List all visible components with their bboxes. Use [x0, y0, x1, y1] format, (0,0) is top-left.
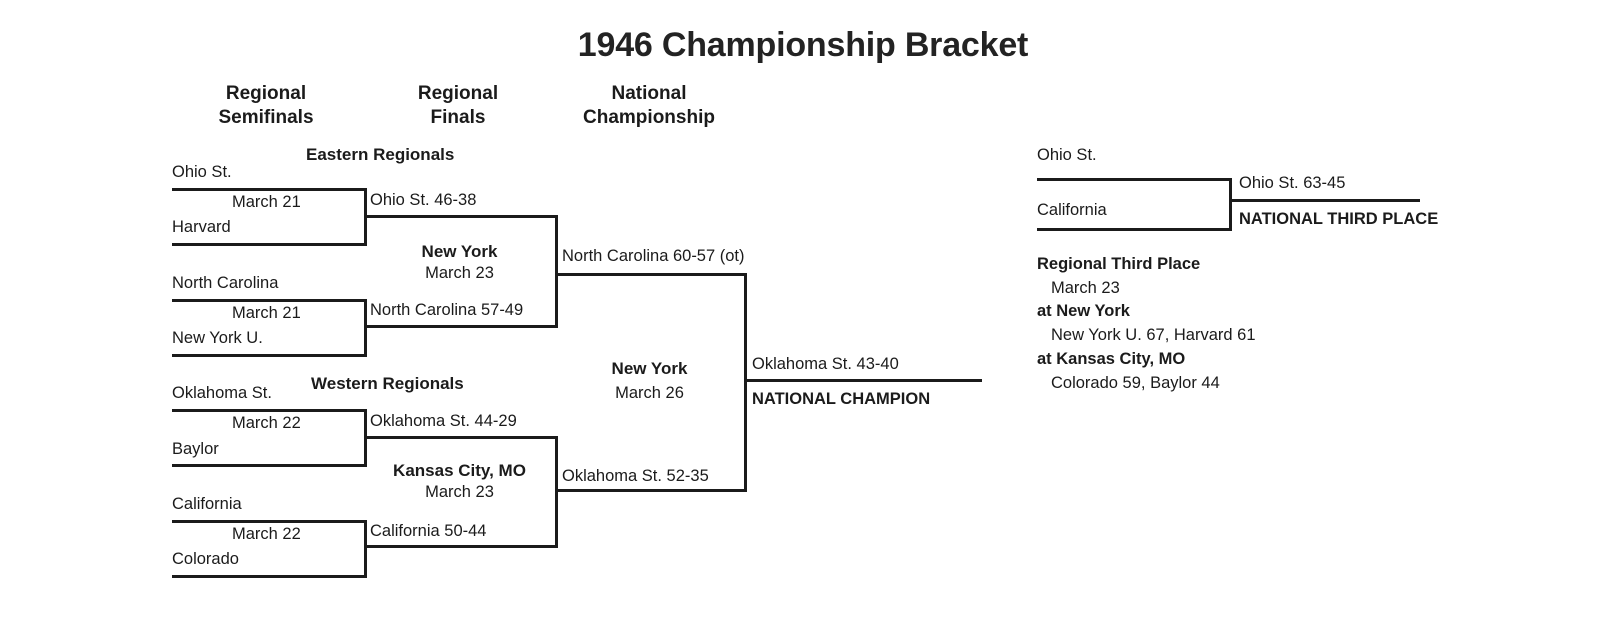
- regional-third-place-result-2: Colorado 59, Baylor 44: [1051, 374, 1220, 393]
- regional-final-west-right-rule: [555, 436, 558, 548]
- semifinal-east2-right-rule: [364, 299, 367, 357]
- round-header-regional-finals: Regional Finals: [370, 82, 546, 130]
- regional-third-place-site-2: at Kansas City, MO: [1037, 350, 1185, 369]
- regional-final-west-date: March 23: [364, 482, 555, 503]
- third-place-label: NATIONAL THIRD PLACE: [1239, 209, 1438, 229]
- semifinal-east2-team-bottom: New York U.: [172, 328, 263, 348]
- championship-site: New York: [555, 358, 744, 379]
- third-place-right-rule: [1229, 178, 1232, 231]
- bracket-root: 1946 Championship Bracket Regional Semif…: [0, 0, 1606, 630]
- region-label-western: Western Regionals: [311, 374, 464, 394]
- championship-right-rule: [744, 273, 747, 492]
- semifinal-west1-top-rule: [172, 409, 364, 412]
- champion-label: NATIONAL CHAMPION: [752, 389, 930, 409]
- regional-final-west-bottom-rule: [364, 545, 555, 548]
- semifinal-east1-team-bottom: Harvard: [172, 217, 231, 237]
- semifinal-east2-bottom-rule: [172, 354, 364, 357]
- regional-final-west-site: Kansas City, MO: [364, 460, 555, 481]
- championship-bottom-rule: [555, 489, 744, 492]
- championship-semifinal-top-result: North Carolina 60-57 (ot): [562, 246, 745, 266]
- semifinal-west2-top-rule: [172, 520, 364, 523]
- semifinal-east2-team-top: North Carolina: [172, 273, 278, 293]
- regional-final-east-top-rule: [364, 215, 555, 218]
- round-header-regional-semifinals: Regional Semifinals: [176, 82, 356, 130]
- semifinal-west1-team-bottom: Baylor: [172, 439, 219, 459]
- third-place-bottom-rule: [1037, 228, 1229, 231]
- semifinal-east1-team-top: Ohio St.: [172, 162, 232, 182]
- semifinal-east2-date: March 21: [232, 303, 301, 323]
- champion-rule: [744, 379, 982, 382]
- third-place-team-bottom: California: [1037, 200, 1107, 220]
- regional-final-east-site: New York: [364, 241, 555, 262]
- round-header-national-championship: National Championship: [556, 82, 742, 130]
- semifinal-west2-bottom-rule: [172, 575, 364, 578]
- regional-final-west-winner-bottom: California 50-44: [370, 521, 486, 541]
- regional-final-east-winner-bottom: North Carolina 57-49: [370, 300, 523, 320]
- semifinal-east2-top-rule: [172, 299, 364, 302]
- regional-final-east-date: March 23: [364, 263, 555, 284]
- semifinal-east1-date: March 21: [232, 192, 301, 212]
- third-place-result: Ohio St. 63-45: [1239, 173, 1345, 193]
- semifinal-west2-date: March 22: [232, 524, 301, 544]
- semifinal-west1-date: March 22: [232, 413, 301, 433]
- semifinal-east1-bottom-rule: [172, 243, 364, 246]
- semifinal-west2-right-rule: [364, 520, 367, 578]
- championship-top-rule: [555, 273, 744, 276]
- third-place-team-top: Ohio St.: [1037, 145, 1097, 165]
- regional-final-east-bottom-rule: [364, 325, 555, 328]
- regional-third-place-heading: Regional Third Place: [1037, 255, 1200, 274]
- semifinal-west1-team-top: Oklahoma St.: [172, 383, 272, 403]
- regional-third-place-site-1: at New York: [1037, 302, 1130, 321]
- semifinal-west2-team-bottom: Colorado: [172, 549, 239, 569]
- championship-semifinal-bottom-result: Oklahoma St. 52-35: [562, 466, 709, 486]
- regional-final-east-winner-top: Ohio St. 46-38: [370, 190, 476, 210]
- regional-final-west-top-rule: [364, 436, 555, 439]
- semifinal-east1-top-rule: [172, 188, 364, 191]
- page-title: 1946 Championship Bracket: [0, 26, 1606, 65]
- regional-final-east-right-rule: [555, 215, 558, 328]
- regional-third-place-date: March 23: [1051, 279, 1120, 298]
- region-label-eastern: Eastern Regionals: [306, 145, 454, 165]
- semifinal-west2-team-top: California: [172, 494, 242, 514]
- third-place-top-rule: [1037, 178, 1229, 181]
- third-place-result-rule: [1229, 199, 1420, 202]
- semifinal-west1-bottom-rule: [172, 464, 364, 467]
- champion-result: Oklahoma St. 43-40: [752, 354, 899, 374]
- championship-date: March 26: [555, 383, 744, 404]
- regional-third-place-result-1: New York U. 67, Harvard 61: [1051, 326, 1256, 345]
- regional-final-west-winner-top: Oklahoma St. 44-29: [370, 411, 517, 431]
